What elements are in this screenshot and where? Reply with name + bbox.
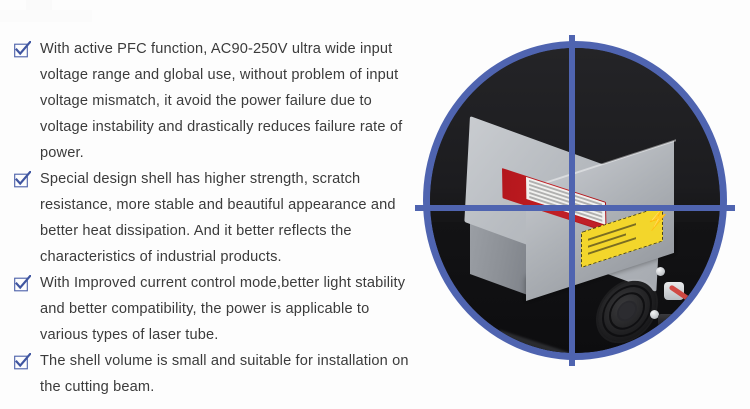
list-item: With Improved current control mode,bette… xyxy=(0,270,420,348)
list-item-text: With Improved current control mode,bette… xyxy=(40,270,420,348)
list-item: Special design shell has higher strength… xyxy=(0,166,420,270)
circular-frame: ⚡ xyxy=(423,41,727,360)
list-item: The shell volume is small and suitable f… xyxy=(0,348,420,400)
crosshair-horizontal xyxy=(415,205,735,211)
list-item-text: Special design shell has higher strength… xyxy=(40,166,420,270)
list-item-text: With active PFC function, AC90-250V ultr… xyxy=(40,36,420,166)
spec-label-brand xyxy=(505,173,525,202)
list-item: With active PFC function, AC90-250V ultr… xyxy=(0,36,420,166)
product-feature-panel: With active PFC function, AC90-250V ultr… xyxy=(0,0,750,409)
checkbox-checked-icon xyxy=(14,171,31,188)
checkbox-checked-icon xyxy=(14,353,31,370)
list-item-text: The shell volume is small and suitable f… xyxy=(40,348,420,400)
checkbox-checked-icon xyxy=(14,275,31,292)
crosshair-vertical xyxy=(569,35,575,366)
feature-list: With active PFC function, AC90-250V ultr… xyxy=(0,36,420,400)
terminal-connector xyxy=(658,314,676,329)
product-photo: ⚡ xyxy=(430,48,720,353)
checkbox-checked-icon xyxy=(14,41,31,58)
corner-watermark xyxy=(26,0,52,18)
screw-icon xyxy=(656,267,665,276)
product-image: ⚡ xyxy=(423,41,727,360)
